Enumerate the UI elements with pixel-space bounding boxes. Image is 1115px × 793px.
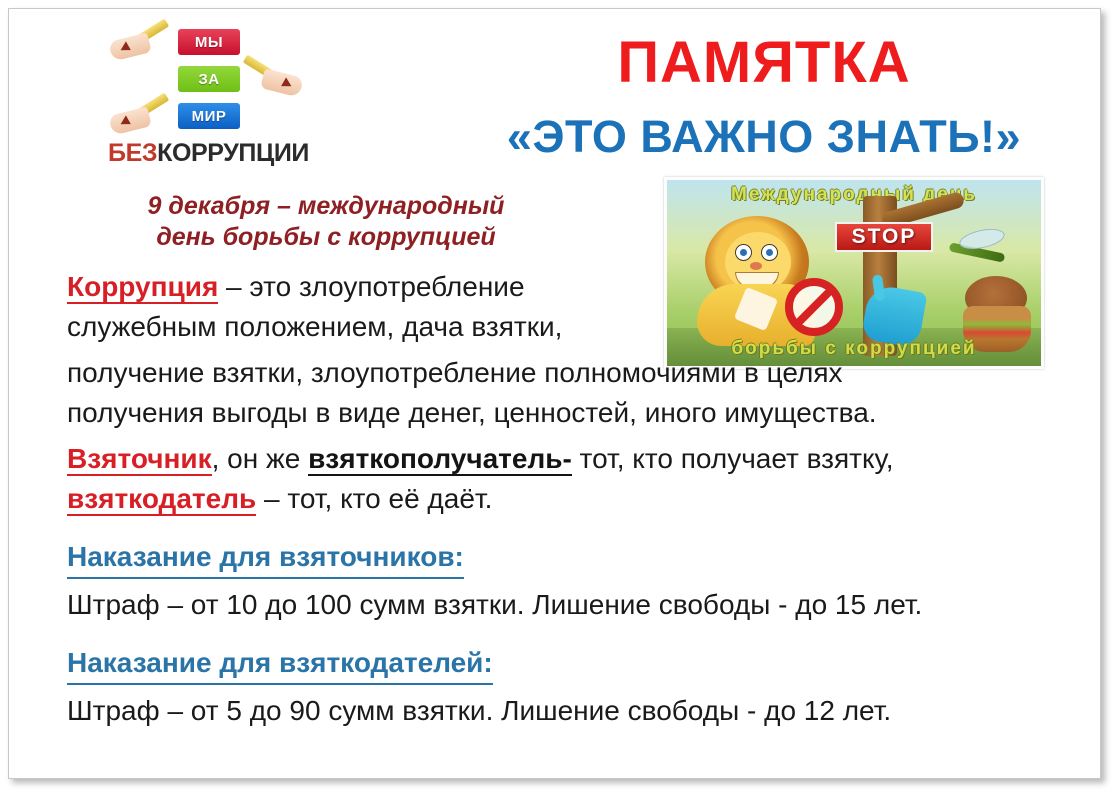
- logo-ribbon-za: ЗА: [178, 66, 240, 92]
- definition-line1-rest: – это злоупотребление: [218, 271, 524, 302]
- hand-pencil-icon: [110, 103, 166, 133]
- definition-line3: получение взятки, злоупотребление полном…: [67, 357, 843, 388]
- heading-punishment-takers: Наказание для взяточников:: [67, 537, 464, 579]
- illustration-caption-top: Международный день: [667, 184, 1041, 206]
- definition-line4: получения выгоды в виде денег, ценностей…: [67, 397, 877, 428]
- definition-paragraph: Коррупция – это злоупотреблениеслужебным…: [67, 267, 667, 347]
- term-korrupciya: Коррупция: [67, 271, 218, 304]
- lion-eye-right-icon: [761, 244, 778, 261]
- roles-mid2: тот, кто получает взятку,: [572, 443, 894, 474]
- date-heading: 9 декабря – международный день борьбы с …: [71, 191, 581, 252]
- logo-wordmark: БЕЗКОРРУПЦИИ: [108, 139, 309, 168]
- logo-wordmark-bez: БЕЗ: [108, 139, 157, 167]
- definition-line2: служебным положением, дача взятки,: [67, 311, 562, 342]
- hand-pencil-icon: [110, 29, 166, 59]
- punishment-givers-text: Штраф – от 5 до 90 сумм взятки. Лишение …: [67, 691, 1055, 731]
- logo-artwork: МЫ ЗА МИР: [94, 27, 344, 139]
- logo-ribbon-my: МЫ: [178, 29, 240, 55]
- roles-paragraph: Взяточник, он же взяткополучатель- тот, …: [67, 439, 1055, 519]
- hand-pencil-icon: [246, 65, 302, 95]
- term-vzyatkodatel: взяткодатель: [67, 483, 256, 516]
- date-heading-line1: 9 декабря – международный: [71, 191, 581, 222]
- punishment-takers-text: Штраф – от 10 до 100 сумм взятки. Лишени…: [67, 585, 1055, 625]
- poster-body: Коррупция – это злоупотреблениеслужебным…: [67, 267, 1055, 737]
- anticorruption-logo: МЫ ЗА МИР БЕЗКОРРУПЦИИ: [94, 27, 344, 172]
- stop-sign-icon: STOP: [835, 222, 933, 252]
- punishment-takers-section: Наказание для взяточников: Штраф – от 10…: [67, 525, 1055, 625]
- logo-ribbon-mir: МИР: [178, 103, 240, 129]
- term-vzyatochnik: Взяточник: [67, 443, 212, 476]
- roles-mid3: – тот, кто её даёт.: [256, 483, 492, 514]
- poster-header: МЫ ЗА МИР БЕЗКОРРУПЦИИ ПАМЯТКА «ЭТО ВАЖН…: [9, 9, 1100, 169]
- punishment-givers-section: Наказание для взяткодателей: Штраф – от …: [67, 631, 1055, 731]
- logo-wordmark-korrupcii: КОРРУПЦИИ: [157, 139, 309, 167]
- poster-slide: МЫ ЗА МИР БЕЗКОРРУПЦИИ ПАМЯТКА «ЭТО ВАЖН…: [8, 8, 1101, 779]
- page-title: ПАМЯТКА: [439, 33, 1089, 92]
- roles-mid1: , он же: [212, 443, 308, 474]
- definition-paragraph-cont: получение взятки, злоупотребление полном…: [67, 353, 1055, 433]
- date-heading-line2: день борьбы с коррупцией: [71, 222, 581, 253]
- heading-punishment-givers: Наказание для взяткодателей:: [67, 643, 493, 685]
- page-subtitle: «ЭТО ВАЖНО ЗНАТЬ!»: [439, 113, 1089, 160]
- term-vzyatkopoluchatel: взяткополучатель-: [308, 443, 572, 476]
- lion-eye-left-icon: [735, 244, 752, 261]
